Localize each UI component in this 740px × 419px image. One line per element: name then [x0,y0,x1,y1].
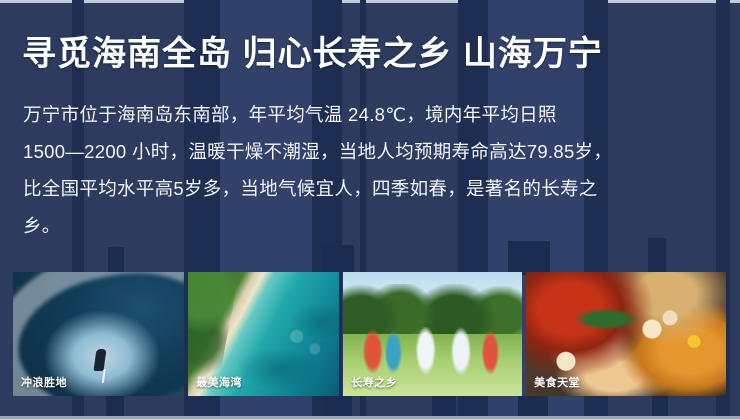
photo-caption: 长寿之乡 [351,374,397,390]
background-block [108,247,124,272]
body-line: 乡。 [23,207,723,244]
body-line: 比全国平均水平高5岁多，当地气候宜人，四季如春，是著名的长寿之 [23,170,723,207]
background-block [508,241,550,275]
photo-surfing[interactable]: 冲浪胜地 [13,272,184,396]
photo-longevity[interactable]: 长寿之乡 [343,272,522,396]
photo-caption: 美食天堂 [534,374,580,390]
body-line: 1500—2200 小时，温暖干燥不潮湿，当地人均预期寿命高达79.85岁， [23,133,723,170]
page-title: 寻觅海南全岛 归心长寿之乡 山海万宁 [22,26,603,75]
top-rule [0,0,740,3]
photo-strip: 冲浪胜地 最美海湾 长寿之乡 美食天堂 [13,272,726,396]
body-paragraph: 万宁市位于海南岛东南部，年平均气温 24.8℃，境内年平均日照 1500—220… [23,96,723,244]
presentation-slide: 寻觅海南全岛 归心长寿之乡 山海万宁 万宁市位于海南岛东南部，年平均气温 24.… [0,0,740,419]
background-block [322,245,354,275]
photo-food[interactable]: 美食天堂 [526,272,726,396]
body-line: 万宁市位于海南岛东南部，年平均气温 24.8℃，境内年平均日照 [23,96,723,133]
photo-bay[interactable]: 最美海湾 [188,272,339,396]
photo-caption: 冲浪胜地 [21,374,67,390]
photo-caption: 最美海湾 [196,374,242,390]
